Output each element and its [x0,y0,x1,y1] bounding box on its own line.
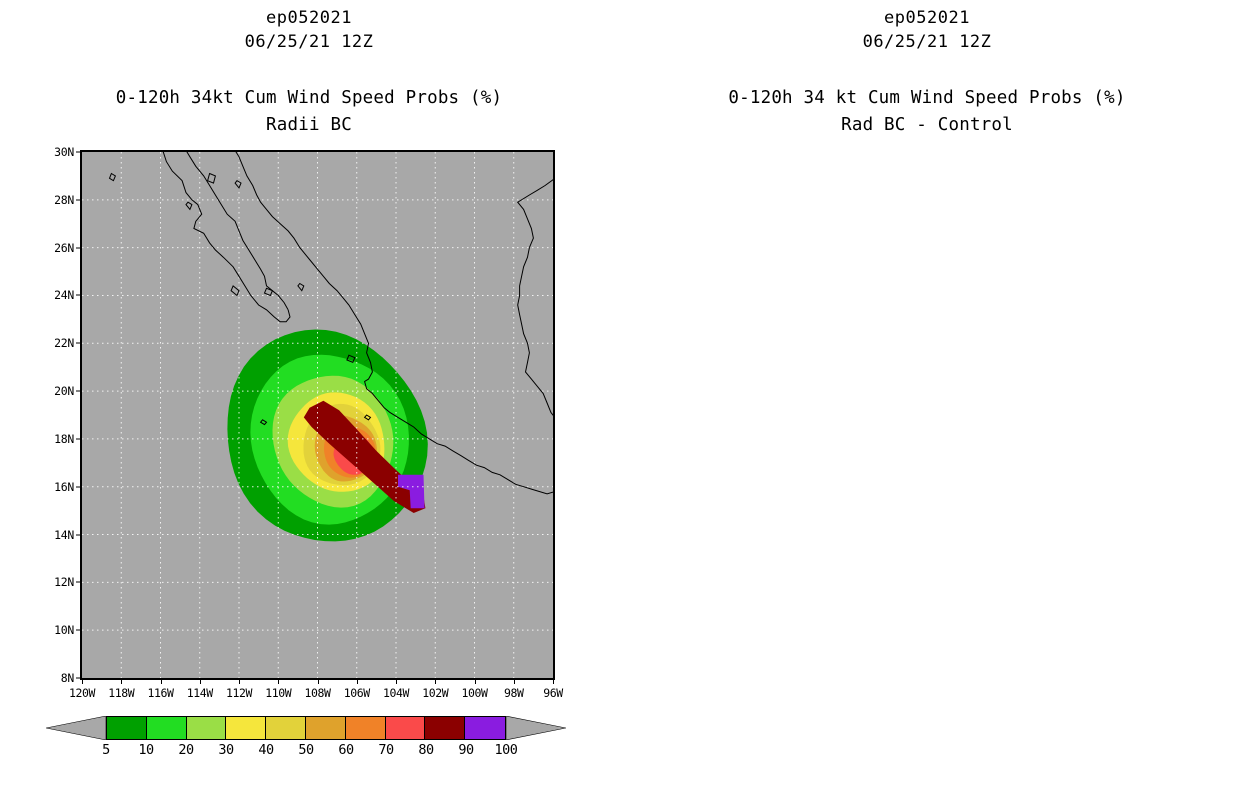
x-axis-tick-label: 116W [147,686,173,700]
colorbar-tick-label: 30 [218,742,233,758]
x-axis-tick-label: 98W [504,686,524,700]
colorbar-band [187,717,227,739]
chart-panels: ep052021 06/25/21 12Z 0-120h 34kt Cum Wi… [0,0,1236,800]
island-outline [110,174,116,181]
x-axis-tick-label: 108W [304,686,330,700]
colorbar-tick-label: 90 [458,742,473,758]
colorbar-band [107,717,147,739]
coastline [139,152,290,322]
x-axis-tick-label: 110W [265,686,291,700]
x-axis-tick-label: 114W [187,686,213,700]
colorbar-band [465,717,505,739]
left-chart-subtitle: Radii BC [0,115,618,135]
left-colorbar: 5102030405060708090100 [46,716,566,776]
left-colorbar-labels: 5102030405060708090100 [46,742,566,762]
y-axis-tick-label: 14N [54,528,74,542]
right-storm-id: ep052021 [618,8,1236,28]
x-axis-tick-label: 118W [108,686,134,700]
x-axis-tick-label: 96W [543,686,563,700]
y-axis-tick-label: 30N [54,145,74,159]
colorbar-tick-label: 20 [178,742,193,758]
island-outline [298,284,304,291]
panel-rad-bc-control: ep052021 06/25/21 12Z 0-120h 34 kt Cum W… [618,0,1236,800]
colorbar-band [226,717,266,739]
y-axis-tick-label: 24N [54,288,74,302]
y-axis-tick-label: 20N [54,384,74,398]
x-axis-tick-label: 120W [69,686,95,700]
coastline [518,169,553,248]
island-outline [231,286,239,296]
colorbar-band [425,717,465,739]
left-map-svg [82,152,553,678]
left-y-axis-labels: 30N28N26N24N22N20N18N16N14N12N10N8N [28,150,74,676]
y-axis-tick-label: 22N [54,336,74,350]
island-outline [235,181,241,188]
y-axis-tick-label: 16N [54,480,74,494]
left-date-time: 06/25/21 12Z [0,32,618,52]
y-axis-tick-label: 10N [54,623,74,637]
x-axis-tick-label: 112W [226,686,252,700]
colorbar-tick-label: 10 [138,742,153,758]
colorbar-tick-label: 80 [418,742,433,758]
left-chart-title: 0-120h 34kt Cum Wind Speed Probs (%) [0,88,618,108]
island-outline [208,174,216,184]
colorbar-tick-label: 40 [258,742,273,758]
y-axis-tick-label: 26N [54,241,74,255]
left-map-plot [80,150,555,680]
left-colorbar-bands [106,716,506,740]
colorbar-tick-label: 60 [338,742,353,758]
colorbar-band [386,717,426,739]
left-colorbar-high-cap [506,716,566,740]
colorbar-tick-label: 50 [298,742,313,758]
y-axis-tick-label: 8N [61,671,74,685]
island-outline [186,202,192,209]
y-axis-tick-label: 28N [54,193,74,207]
x-axis-tick-label: 106W [344,686,370,700]
right-chart-subtitle: Rad BC - Control [618,115,1236,135]
colorbar-band [306,717,346,739]
right-chart-title: 0-120h 34 kt Cum Wind Speed Probs (%) [618,88,1236,108]
left-colorbar-low-cap [46,716,106,740]
x-axis-tick-label: 100W [461,686,487,700]
coastline [518,248,553,425]
colorbar-tick-label: 70 [378,742,393,758]
colorbar-tick-label: 100 [495,742,518,758]
panel-radii-bc: ep052021 06/25/21 12Z 0-120h 34kt Cum Wi… [0,0,618,800]
colorbar-band [147,717,187,739]
y-axis-tick-label: 18N [54,432,74,446]
x-axis-tick-label: 104W [383,686,409,700]
left-storm-id: ep052021 [0,8,618,28]
x-axis-tick-label: 102W [422,686,448,700]
right-date-time: 06/25/21 12Z [618,32,1236,52]
y-axis-tick-label: 12N [54,575,74,589]
colorbar-tick-label: 5 [102,742,110,758]
colorbar-band [266,717,306,739]
colorbar-band [346,717,386,739]
